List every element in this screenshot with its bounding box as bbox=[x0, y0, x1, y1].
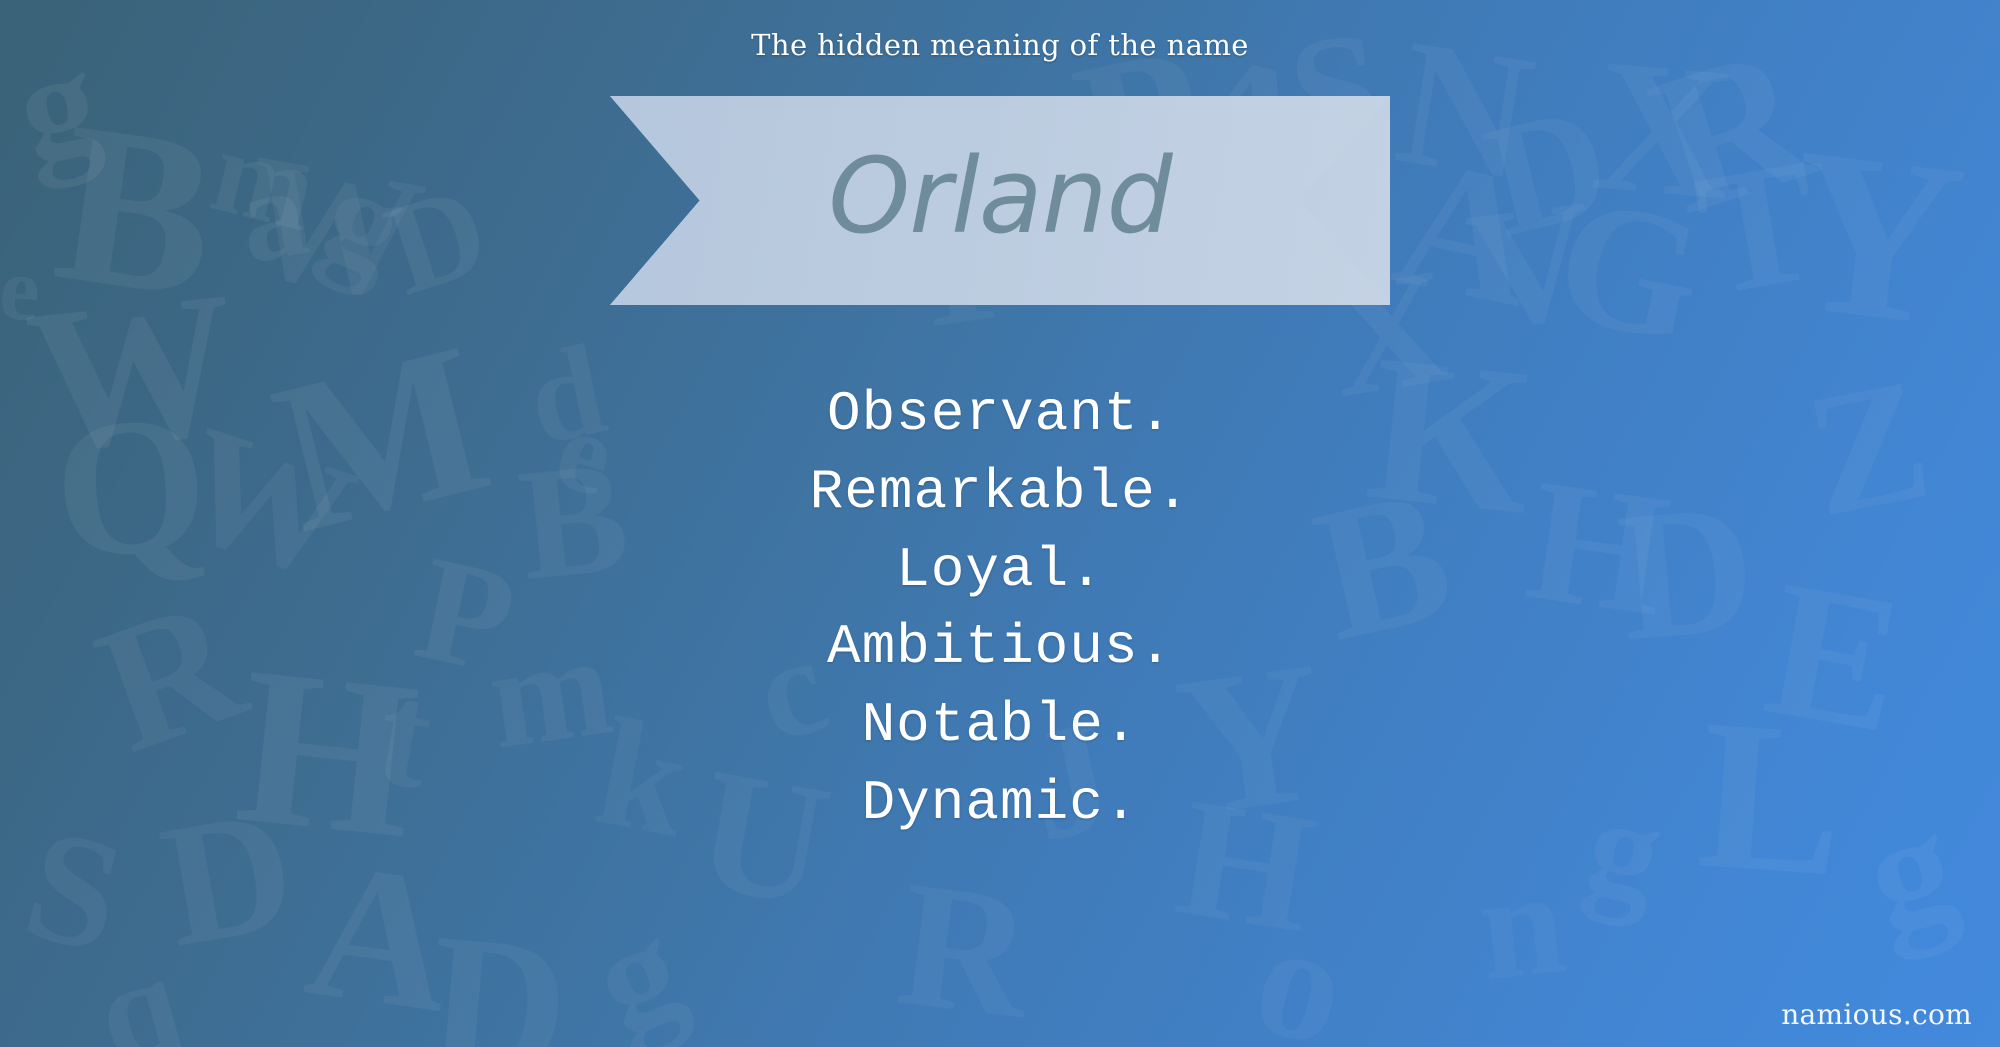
texture-letter: D bbox=[372, 164, 501, 317]
meaning-line: Remarkable. bbox=[0, 454, 2000, 532]
texture-letter: A bbox=[1382, 128, 1551, 337]
texture-letter: R bbox=[890, 853, 1041, 1047]
texture-letter: g bbox=[575, 891, 701, 1047]
texture-letter: q bbox=[82, 932, 195, 1047]
texture-letter: a bbox=[229, 145, 316, 284]
meaning-line: Observant. bbox=[0, 376, 2000, 454]
texture-letter: D bbox=[1472, 78, 1623, 261]
meaning-list: Observant. Remarkable. Loyal. Ambitious.… bbox=[0, 376, 2000, 843]
texture-letter: g bbox=[306, 142, 423, 298]
texture-letter: o bbox=[1241, 892, 1361, 1047]
texture-letter: A bbox=[297, 831, 464, 1044]
name-text: Orland bbox=[610, 96, 1390, 305]
texture-letter: W bbox=[231, 126, 434, 329]
texture-letter: D bbox=[422, 904, 575, 1047]
texture-letter: Y bbox=[1776, 111, 1973, 365]
meaning-line: Ambitious. bbox=[0, 609, 2000, 687]
meaning-line: Notable. bbox=[0, 687, 2000, 765]
texture-letter: m bbox=[202, 110, 328, 251]
texture-letter: T bbox=[1686, 131, 1831, 324]
texture-letter: e bbox=[0, 243, 44, 336]
texture-letter: n bbox=[1472, 846, 1571, 1004]
texture-letter: G bbox=[1544, 168, 1716, 371]
meaning-line: Dynamic. bbox=[0, 765, 2000, 843]
name-meaning-card: gBWmaWeQWMgDPmHRtdeBADSqDgUTlPASNDXRYTAV… bbox=[0, 0, 2000, 1047]
name-banner: Orland bbox=[610, 96, 1390, 305]
page-title: The hidden meaning of the name bbox=[0, 28, 2000, 62]
texture-letter: B bbox=[45, 85, 229, 334]
texture-letter: V bbox=[1460, 173, 1603, 357]
meaning-line: Loyal. bbox=[0, 532, 2000, 610]
site-watermark: namious.com bbox=[1781, 998, 1972, 1031]
